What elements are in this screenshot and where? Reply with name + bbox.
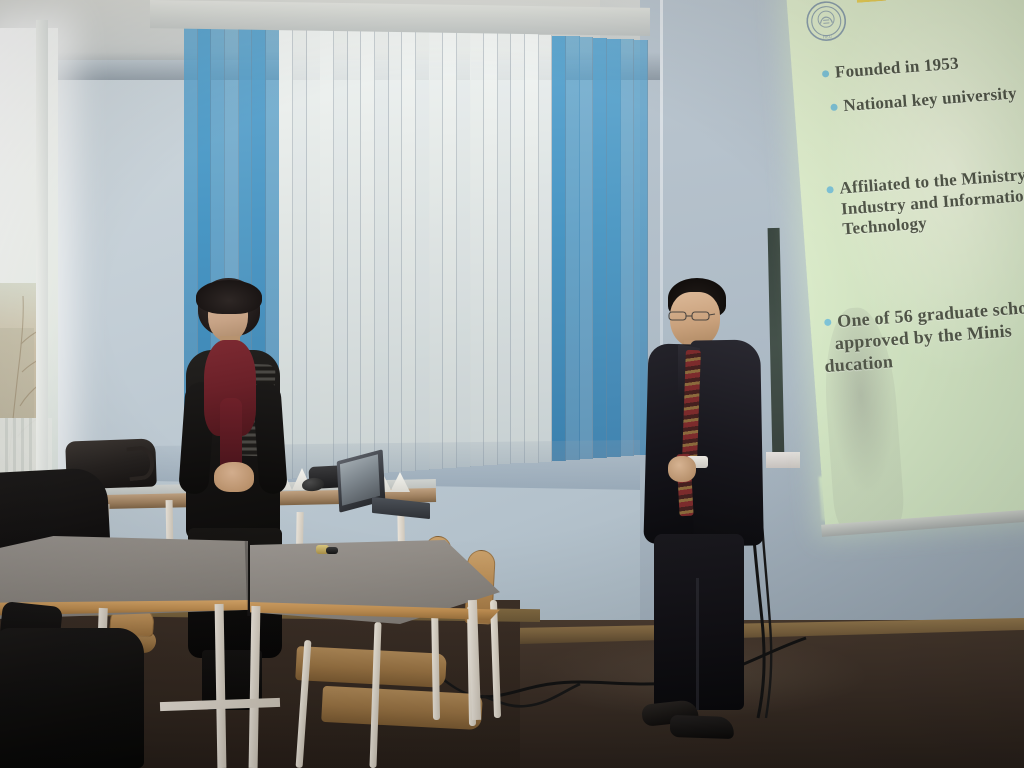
blind-slat[interactable] — [566, 36, 580, 459]
laptop-keyboard[interactable] — [372, 497, 430, 519]
blind-slat[interactable] — [579, 37, 593, 459]
vertical-blinds[interactable] — [44, 0, 634, 500]
blind-slat[interactable] — [416, 28, 430, 470]
projection-screen: HEU Founded in 1953 National key univers… — [786, 0, 1024, 550]
blind-slat[interactable] — [389, 27, 403, 472]
blind-slat[interactable] — [334, 24, 348, 476]
blind-slat[interactable] — [511, 33, 525, 463]
man-presenter — [630, 278, 780, 748]
blind-slat[interactable] — [552, 36, 566, 461]
blind-slat[interactable] — [443, 30, 457, 468]
blind-slat[interactable] — [429, 29, 443, 469]
blind-slat[interactable] — [607, 39, 621, 457]
blind-slat[interactable] — [525, 34, 539, 462]
blind-slat[interactable] — [470, 31, 484, 466]
blind-slat[interactable] — [498, 33, 512, 465]
man-shoe-right — [670, 715, 735, 739]
blind-slat[interactable] — [361, 25, 375, 473]
woman-fringe — [196, 280, 262, 314]
blind-slat[interactable] — [375, 26, 389, 473]
bullet-dot-icon — [822, 70, 829, 77]
blind-slat[interactable] — [457, 31, 471, 468]
university-seal-icon: HEU — [803, 0, 850, 45]
usb-drive[interactable] — [316, 544, 338, 555]
woman-hands — [214, 462, 254, 492]
man-trouser-seam — [696, 578, 699, 710]
slide-bullet-4-line3: ducation — [824, 351, 894, 376]
man-hands — [668, 456, 696, 482]
floor-bag[interactable] — [0, 628, 144, 768]
blind-slat[interactable] — [320, 23, 334, 476]
eyeglasses-icon — [668, 310, 716, 322]
blind-slat[interactable] — [402, 28, 416, 471]
bullet-dot-icon — [824, 319, 831, 326]
slide-bullet-3-text: Affiliated to the Ministry Industry and … — [839, 165, 1024, 241]
blind-slat[interactable] — [348, 25, 362, 475]
usb-drive-cap — [326, 547, 338, 554]
blind-slat[interactable] — [307, 23, 321, 478]
man-trousers — [654, 534, 744, 710]
blind-slat[interactable] — [593, 38, 607, 458]
woman-presenter — [168, 278, 308, 708]
slide-bullet-4-text: One of 56 graduate school approved by th… — [837, 296, 1024, 377]
classroom-presentation-photo: HEU Founded in 1953 National key univers… — [0, 0, 1024, 768]
blind-slat[interactable] — [539, 35, 553, 462]
svg-text:HEU: HEU — [822, 34, 832, 40]
bullet-dot-icon — [830, 104, 837, 111]
laptop[interactable] — [338, 455, 430, 517]
bullet-dot-icon — [826, 186, 833, 193]
blind-slat[interactable] — [484, 32, 498, 465]
man-jacket-right — [690, 339, 764, 546]
